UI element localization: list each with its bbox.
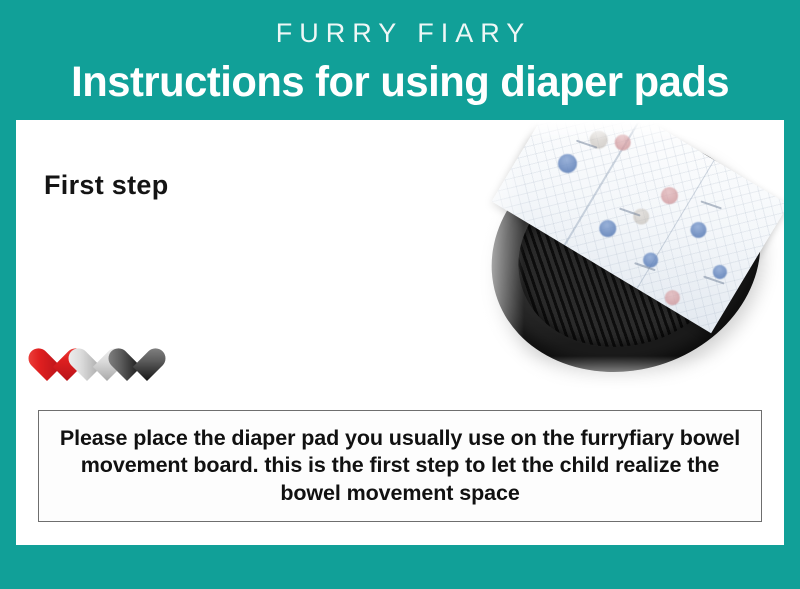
pad-dot <box>688 219 710 241</box>
caption-text: Please place the diaper pad you usually … <box>49 425 751 508</box>
pad-print-mark <box>701 201 722 210</box>
pad-dot <box>554 150 580 176</box>
photo-scene <box>468 122 784 390</box>
product-photo <box>468 122 784 390</box>
step-title: First step <box>44 170 169 201</box>
page-title: Instructions for using diaper pads <box>71 60 729 105</box>
caption-box: Please place the diaper pad you usually … <box>38 410 762 522</box>
pad-dot <box>630 206 652 228</box>
page-header: FURRY FIARY Instructions for using diape… <box>0 0 800 120</box>
photo-edge-fade <box>468 122 524 390</box>
photo-edge-fade <box>468 122 784 140</box>
pad-dot <box>662 287 683 308</box>
heart-rating-row <box>44 345 164 385</box>
content-card: First step <box>16 120 784 545</box>
brand-name: FURRY FIARY <box>269 20 532 47</box>
photo-edge-fade <box>468 356 784 390</box>
pad-dot <box>596 217 619 240</box>
pad-dot <box>658 184 681 207</box>
heart-dark-icon <box>124 345 166 385</box>
